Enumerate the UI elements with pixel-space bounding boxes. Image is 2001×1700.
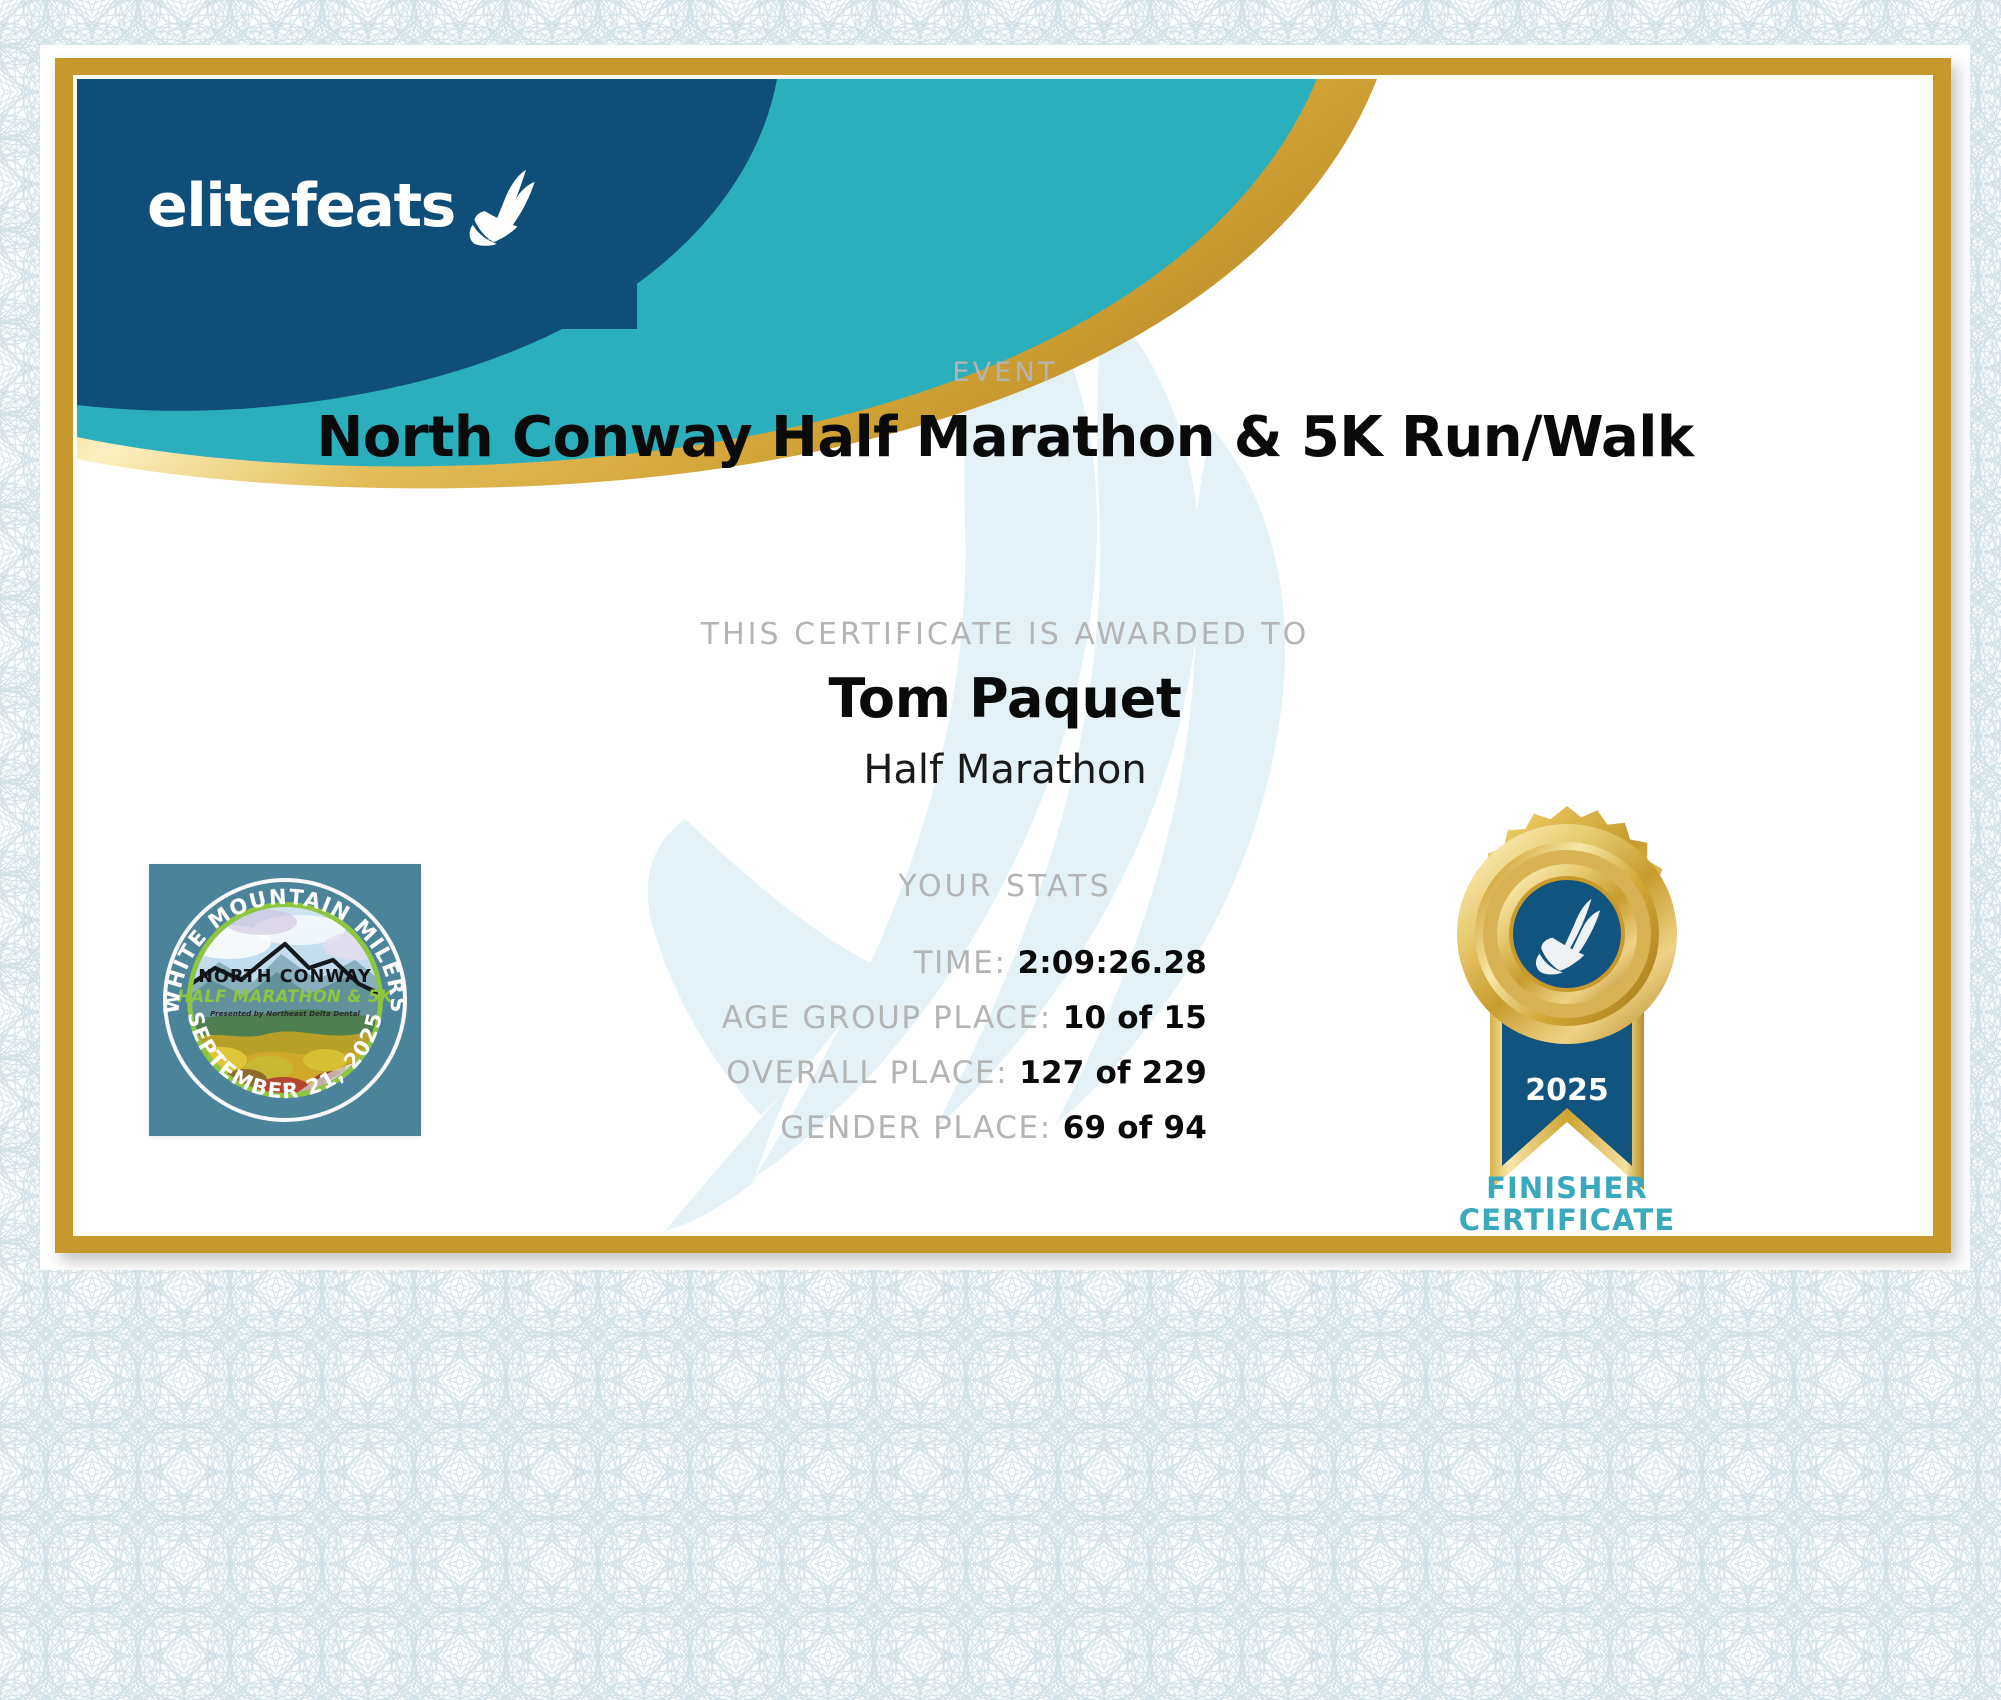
recipient-division: Half Marathon	[77, 747, 1929, 793]
event-kicker-label: EVENT	[77, 357, 1929, 388]
certificate-page: elitefeats EVENT North Conway Half Marat…	[0, 0, 2001, 1700]
event-title: North Conway Half Marathon & 5K Run/Walk	[77, 405, 1929, 470]
race-logo-line2: HALF MARATHON & 5K	[177, 987, 394, 1006]
stat-value: 2:09:26.28	[1017, 945, 1207, 981]
medal-caption-line2: CERTIFICATE	[1402, 1204, 1732, 1232]
stat-value: 10 of 15	[1063, 1000, 1207, 1036]
medal-ribbon-year: 2025	[1525, 1073, 1609, 1108]
stat-value: 69 of 94	[1063, 1110, 1207, 1146]
medal-rosette	[1457, 806, 1677, 1044]
finisher-medal: 2025	[1432, 804, 1702, 1224]
medal-caption: FINISHER CERTIFICATE	[1402, 1172, 1732, 1232]
stat-label: AGE GROUP PLACE:	[722, 1000, 1052, 1036]
certificate-card: elitefeats EVENT North Conway Half Marat…	[77, 79, 1929, 1232]
recipient-name: Tom Paquet	[77, 667, 1929, 730]
stat-value: 127 of 229	[1019, 1055, 1207, 1091]
certificate-frame: elitefeats EVENT North Conway Half Marat…	[55, 58, 1951, 1253]
medal-caption-line1: FINISHER	[1402, 1172, 1732, 1204]
stat-label: OVERALL PLACE:	[726, 1055, 1008, 1091]
race-logo-line3: Presented by Northeast Delta Dental	[210, 1009, 360, 1018]
awarded-to-label: THIS CERTIFICATE IS AWARDED TO	[77, 617, 1929, 652]
stat-label: GENDER PLACE:	[780, 1110, 1051, 1146]
certificate-content: EVENT North Conway Half Marathon & 5K Ru…	[77, 79, 1929, 1232]
race-logo-line1: NORTH CONWAY	[198, 967, 372, 987]
stat-label: TIME:	[914, 945, 1007, 981]
race-event-logo: NORTH CONWAY HALF MARATHON & 5K Presente…	[149, 864, 421, 1136]
